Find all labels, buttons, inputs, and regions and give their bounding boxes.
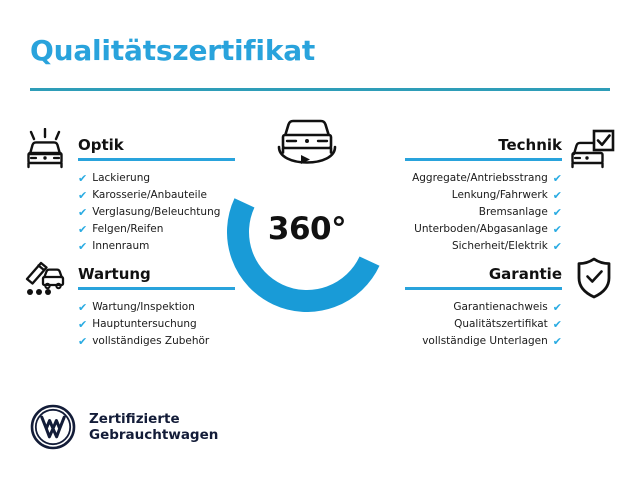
section-wartung-list: ✔Wartung/Inspektion ✔Hauptuntersuchung ✔… (78, 299, 235, 350)
check-icon: ✔ (78, 241, 87, 252)
list-item-label: Garantienachweis (453, 299, 547, 316)
list-item: Sicherheit/Elektrik✔ (405, 238, 562, 255)
list-item-label: Unterboden/Abgasanlage (414, 221, 548, 238)
list-item: ✔Hauptuntersuchung (78, 316, 235, 333)
section-optik-divider (78, 158, 235, 161)
badge-360-gebrauchtwagen-check: Gebrauchtwagen-Check 360° (227, 152, 387, 312)
check-icon: ✔ (553, 190, 562, 201)
list-item: ✔Innenraum (78, 238, 235, 255)
list-item-label: Verglasung/Beleuchtung (92, 204, 220, 221)
list-item: Bremsanlage✔ (405, 204, 562, 221)
list-item-label: vollständige Unterlagen (422, 333, 548, 350)
check-icon: ✔ (78, 336, 87, 347)
section-technik-header: Technik (405, 130, 562, 158)
check-icon: ✔ (553, 224, 562, 235)
section-wartung-divider (78, 287, 235, 290)
list-item: Qualitätszertifikat✔ (405, 316, 562, 333)
list-item: ✔vollständiges Zubehör (78, 333, 235, 350)
car-checkbox-icon (570, 128, 616, 170)
check-icon: ✔ (78, 173, 87, 184)
list-item: ✔Wartung/Inspektion (78, 299, 235, 316)
section-technik-list: Aggregate/Antriebsstrang✔ Lenkung/Fahrwe… (405, 170, 562, 255)
badge-360-value: 360° (227, 152, 387, 312)
list-item-label: vollständiges Zubehör (92, 333, 209, 350)
list-item: vollständige Unterlagen✔ (405, 333, 562, 350)
list-item: ✔Felgen/Reifen (78, 221, 235, 238)
list-item-label: Hauptuntersuchung (92, 316, 197, 333)
section-garantie: Garantie Garantienachweis✔ Qualitätszert… (405, 259, 562, 350)
check-icon: ✔ (78, 207, 87, 218)
check-icon: ✔ (78, 190, 87, 201)
list-item: Lenkung/Fahrwerk✔ (405, 187, 562, 204)
list-item-label: Sicherheit/Elektrik (452, 238, 548, 255)
check-icon: ✔ (553, 173, 562, 184)
check-icon: ✔ (553, 207, 562, 218)
section-garantie-divider (405, 287, 562, 290)
vw-text-line2: Gebrauchtwagen (89, 427, 218, 443)
list-item-label: Karosserie/Anbauteile (92, 187, 207, 204)
list-item: ✔Lackierung (78, 170, 235, 187)
section-optik-list: ✔Lackierung ✔Karosserie/Anbauteile ✔Verg… (78, 170, 235, 255)
section-optik-title: Optik (78, 136, 124, 154)
list-item-label: Wartung/Inspektion (92, 299, 195, 316)
check-icon: ✔ (553, 336, 562, 347)
quality-certificate-page: Qualitätszertifikat Optik ✔Lackierung ✔K… (0, 0, 640, 480)
car-service-pen-icon (22, 255, 68, 297)
section-garantie-list: Garantienachweis✔ Qualitätszertifikat✔ v… (405, 299, 562, 350)
check-icon: ✔ (78, 319, 87, 330)
check-icon: ✔ (553, 302, 562, 313)
list-item-label: Lackierung (92, 170, 150, 187)
section-technik-title: Technik (498, 136, 562, 154)
section-optik: Optik ✔Lackierung ✔Karosserie/Anbauteile… (78, 130, 235, 255)
check-icon: ✔ (78, 224, 87, 235)
list-item-label: Lenkung/Fahrwerk (452, 187, 548, 204)
list-item: ✔Karosserie/Anbauteile (78, 187, 235, 204)
shield-check-icon (572, 257, 618, 299)
list-item: Unterboden/Abgasanlage✔ (405, 221, 562, 238)
page-title: Qualitätszertifikat (30, 34, 315, 67)
title-divider (30, 88, 610, 91)
list-item-label: Qualitätszertifikat (454, 316, 548, 333)
section-technik-divider (405, 158, 562, 161)
section-garantie-title: Garantie (489, 265, 562, 283)
check-icon: ✔ (553, 319, 562, 330)
vw-certified-lockup: Zertifizierte Gebrauchtwagen (30, 404, 218, 450)
check-icon: ✔ (553, 241, 562, 252)
section-garantie-header: Garantie (405, 259, 562, 287)
list-item-label: Aggregate/Antriebsstrang (412, 170, 548, 187)
list-item: ✔Verglasung/Beleuchtung (78, 204, 235, 221)
vw-certified-text: Zertifizierte Gebrauchtwagen (89, 411, 218, 443)
section-wartung-header: Wartung (78, 259, 235, 287)
list-item-label: Felgen/Reifen (92, 221, 163, 238)
car-shine-icon (22, 128, 68, 170)
list-item: Garantienachweis✔ (405, 299, 562, 316)
section-wartung: Wartung ✔Wartung/Inspektion ✔Hauptunters… (78, 259, 235, 350)
section-optik-header: Optik (78, 130, 235, 158)
vw-logo (30, 404, 76, 450)
list-item-label: Innenraum (92, 238, 149, 255)
check-icon: ✔ (78, 302, 87, 313)
section-wartung-title: Wartung (78, 265, 151, 283)
vw-text-line1: Zertifizierte (89, 411, 218, 427)
section-technik: Technik Aggregate/Antriebsstrang✔ Lenkun… (405, 130, 562, 255)
list-item: Aggregate/Antriebsstrang✔ (405, 170, 562, 187)
list-item-label: Bremsanlage (479, 204, 548, 221)
